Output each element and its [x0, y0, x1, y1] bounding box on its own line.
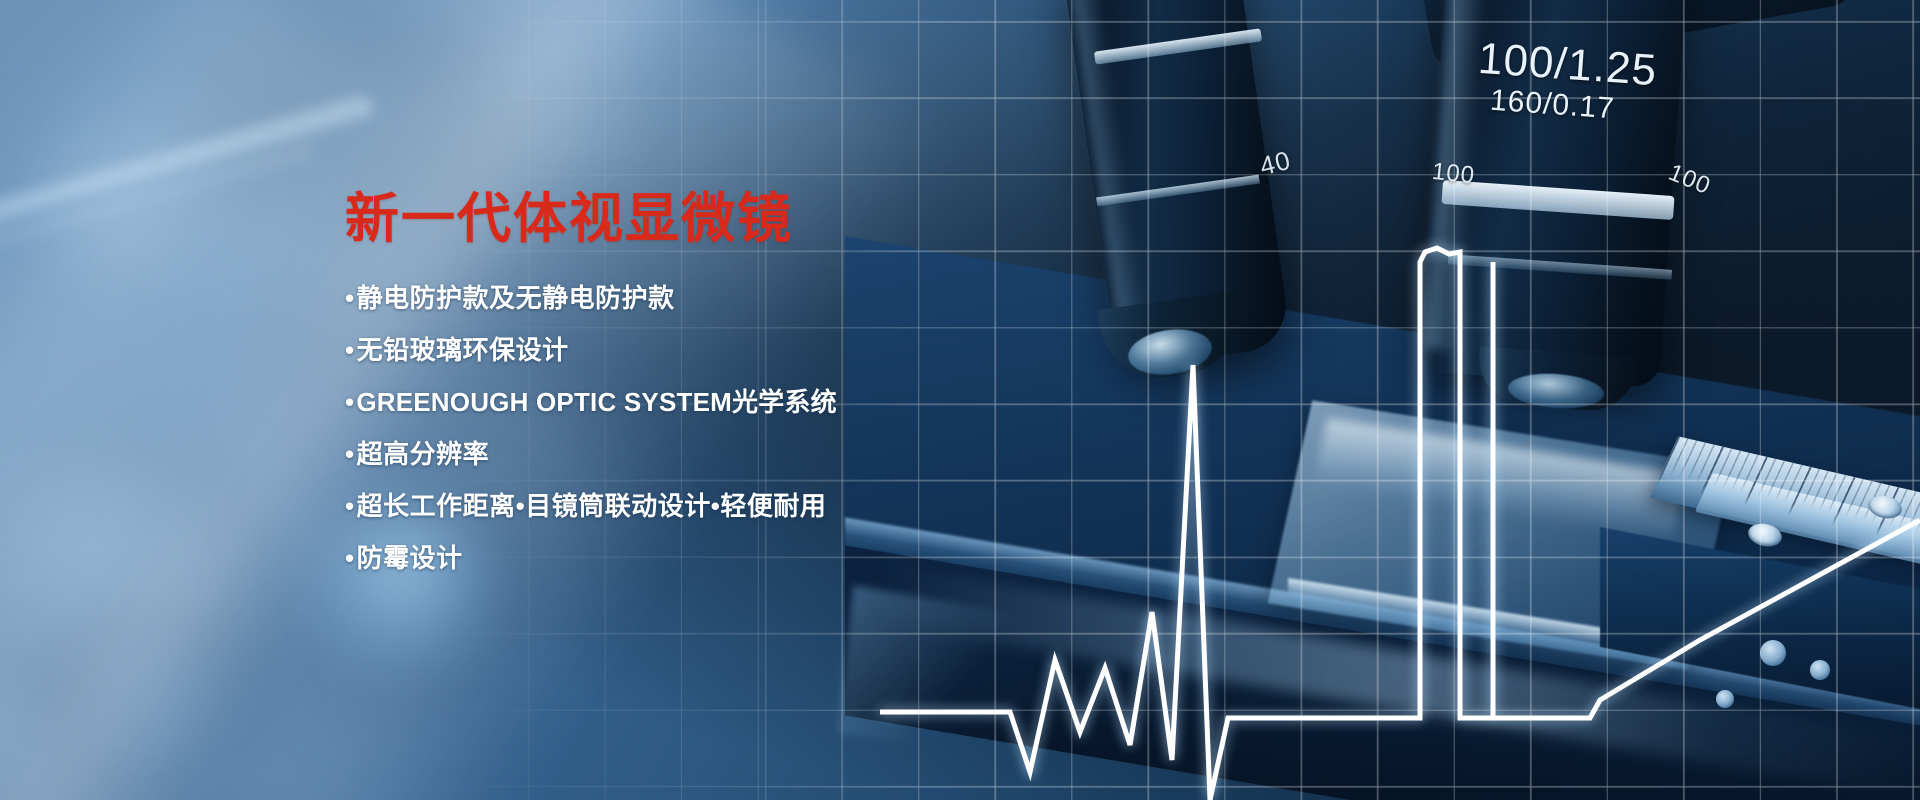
list-item-label: 静电防护款及无静电防护款: [357, 283, 675, 313]
list-item-label: 超高分辨率: [357, 439, 490, 469]
bullet-icon: •: [345, 283, 355, 313]
objective-magnification-left: 40: [1257, 145, 1295, 183]
list-item-label: 超长工作距离•目镜筒联动设计•轻便耐用: [357, 491, 827, 521]
list-item: •防霉设计: [345, 545, 985, 571]
stage-bolt: [1760, 640, 1786, 666]
list-item-label: 无铅玻璃环保设计: [357, 335, 569, 365]
stage-bolt: [1716, 690, 1734, 708]
bullet-icon: •: [345, 491, 355, 521]
list-item-label: 防霉设计: [357, 543, 463, 573]
page-title: 新一代体视显微镜: [345, 190, 985, 249]
bullet-icon: •: [345, 439, 355, 469]
feature-list: •静电防护款及无静电防护款 •无铅玻璃环保设计 •GREENOUGH OPTIC…: [345, 285, 985, 571]
hero-copy: 新一代体视显微镜 •静电防护款及无静电防护款 •无铅玻璃环保设计 •GREENO…: [345, 190, 985, 597]
bullet-icon: •: [345, 387, 354, 417]
objective-magnification-right-a: 100: [1431, 158, 1477, 190]
list-item: •无铅玻璃环保设计: [345, 337, 985, 363]
list-item: •静电防护款及无静电防护款: [345, 285, 985, 311]
bullet-icon: •: [345, 543, 355, 573]
list-item: •超长工作距离•目镜筒联动设计•轻便耐用: [345, 493, 985, 519]
bullet-icon: •: [345, 335, 355, 365]
list-item: •超高分辨率: [345, 441, 985, 467]
list-item-label: GREENOUGH OPTIC SYSTEM光学系统: [356, 387, 836, 417]
stage-bevel: [837, 585, 1043, 764]
product-hero-banner: 100/1.25 160/0.17 40 100 100 新一代体视显微镜 •静…: [0, 0, 1920, 800]
list-item: •GREENOUGH OPTIC SYSTEM光学系统: [345, 389, 985, 415]
stage-bolt: [1810, 660, 1830, 680]
